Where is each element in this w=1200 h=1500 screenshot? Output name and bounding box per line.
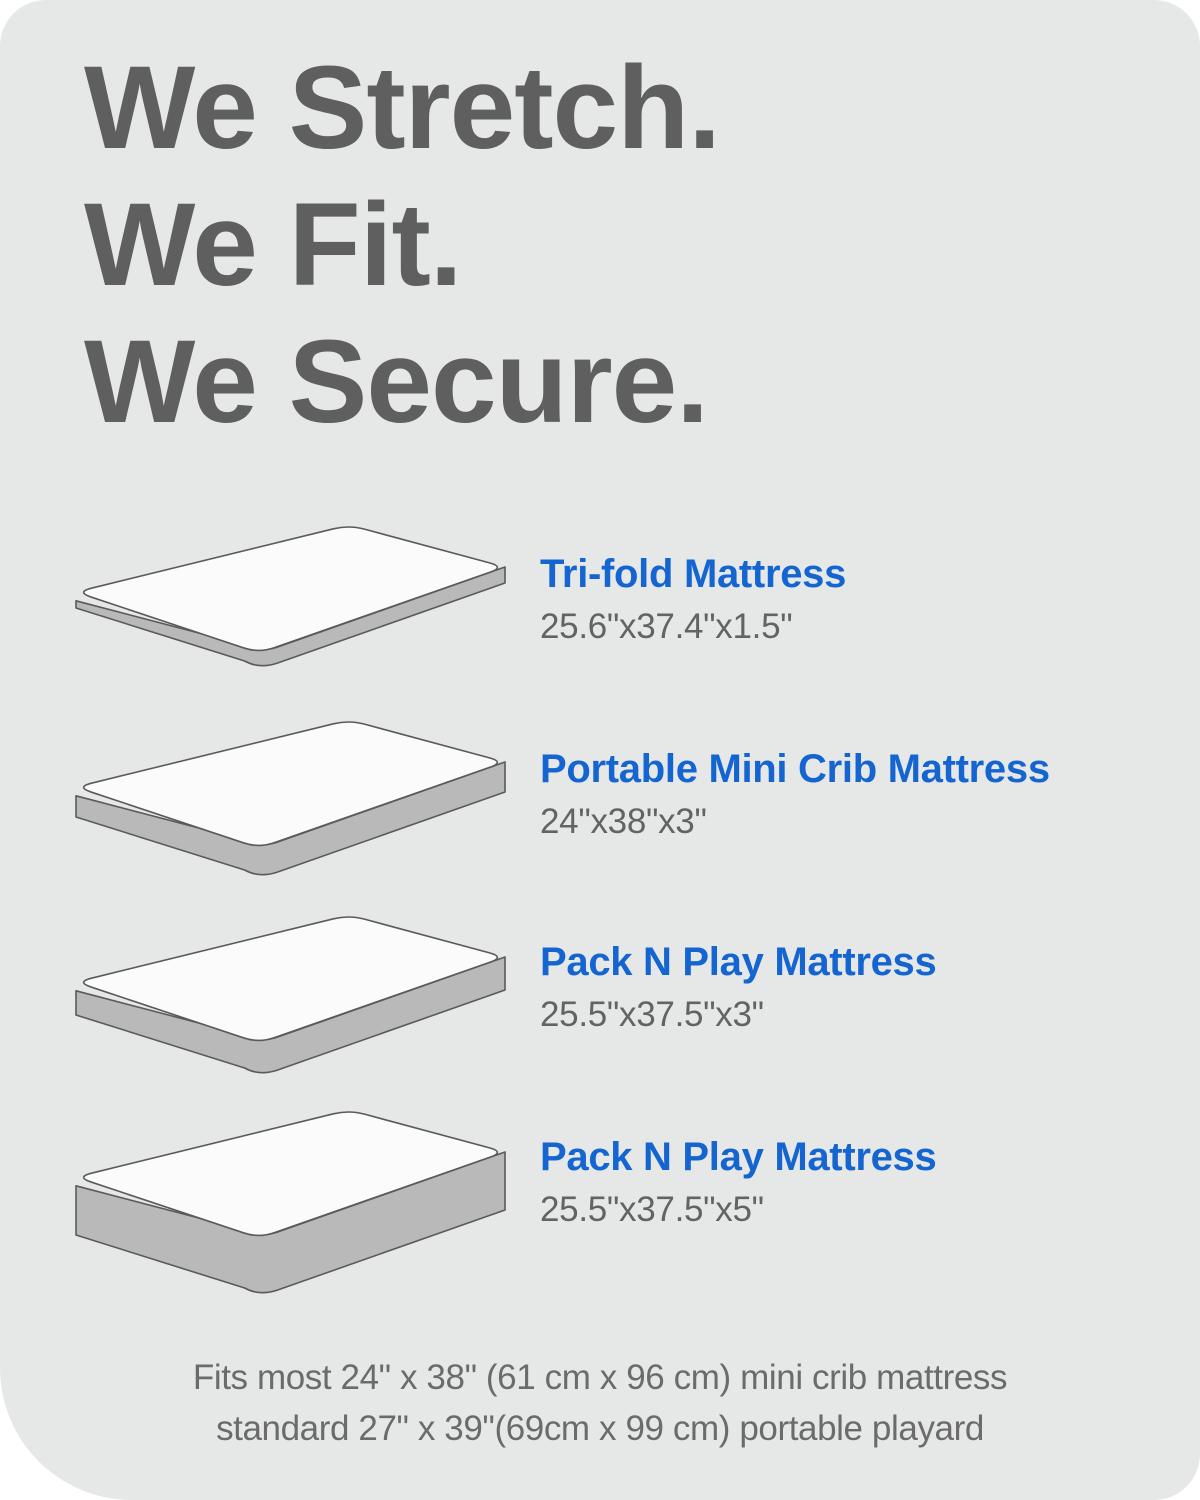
headline: We Stretch. We Fit. We Secure. [84, 40, 1134, 451]
list-item: Portable Mini Crib Mattress 24"x38"x3" [0, 715, 1200, 910]
product-dimensions: 25.6"x37.4"x1.5" [540, 607, 846, 647]
footer-note: Fits most 24" x 38" (61 cm x 96 cm) mini… [0, 1352, 1200, 1454]
headline-line-2: We Fit. [84, 177, 1134, 314]
product-title: Portable Mini Crib Mattress [540, 747, 1050, 792]
isometric-mattress-icon [62, 1105, 522, 1300]
product-dimensions: 25.5"x37.5"x3" [540, 995, 936, 1035]
list-item: Pack N Play Mattress 25.5"x37.5"x3" [0, 910, 1200, 1105]
infographic-panel: We Stretch. We Fit. We Secure. Tri-fold … [0, 0, 1200, 1500]
footer-line-2: standard 27" x 39"(69cm x 99 cm) portabl… [0, 1403, 1200, 1454]
product-dimensions: 24"x38"x3" [540, 802, 1050, 842]
product-list: Tri-fold Mattress 25.6"x37.4"x1.5" Porta… [0, 520, 1200, 1300]
isometric-mattress-icon [62, 910, 522, 1105]
product-title: Pack N Play Mattress [540, 1135, 936, 1180]
isometric-mattress-icon [62, 715, 522, 910]
product-title: Tri-fold Mattress [540, 552, 846, 597]
product-title: Pack N Play Mattress [540, 940, 936, 985]
product-dimensions: 25.5"x37.5"x5" [540, 1190, 936, 1230]
footer-line-1: Fits most 24" x 38" (61 cm x 96 cm) mini… [0, 1352, 1200, 1403]
headline-line-3: We Secure. [84, 314, 1134, 451]
isometric-mattress-icon [62, 520, 522, 715]
list-item: Pack N Play Mattress 25.5"x37.5"x5" [0, 1105, 1200, 1300]
headline-line-1: We Stretch. [84, 40, 1134, 177]
list-item: Tri-fold Mattress 25.6"x37.4"x1.5" [0, 520, 1200, 715]
